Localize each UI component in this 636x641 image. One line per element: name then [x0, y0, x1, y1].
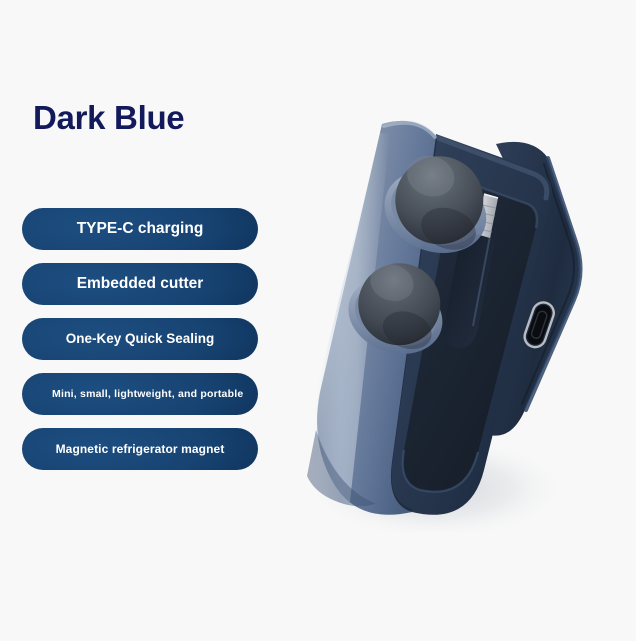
- feature-badge-mini-portable: Mini, small, lightweight, and portable: [22, 373, 258, 415]
- feature-badge-type-c-charging: TYPE-C charging: [22, 208, 258, 250]
- feature-badge-magnetic-fridge-magnet: Magnetic refrigerator magnet: [22, 428, 258, 470]
- feature-badge-one-key-quick-sealing: One-Key Quick Sealing: [22, 318, 258, 360]
- product-photo-mini-bag-sealer: [286, 112, 626, 532]
- product-image-canvas: Dark Blue TYPE-C charging Embedded cutte…: [0, 0, 636, 641]
- feature-badge-embedded-cutter: Embedded cutter: [22, 263, 258, 305]
- page-title: Dark Blue: [33, 101, 184, 134]
